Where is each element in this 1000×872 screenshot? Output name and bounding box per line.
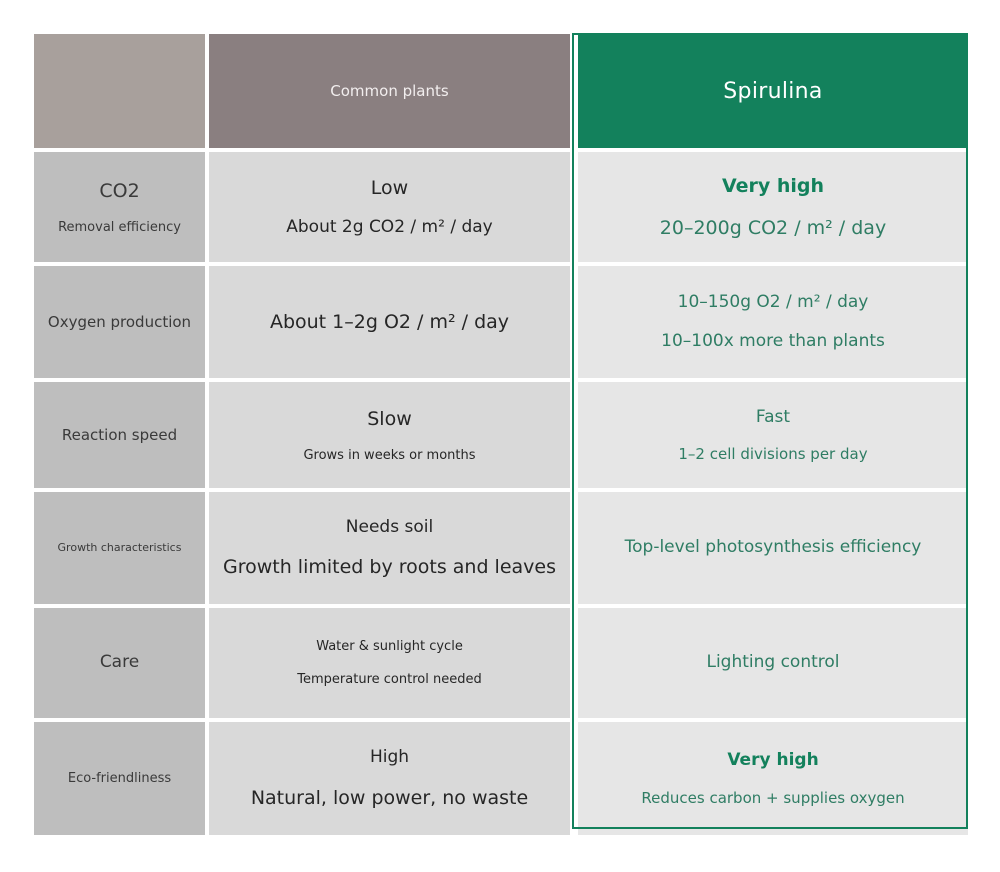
row-label-primary-co2: CO2 (99, 177, 139, 206)
column-gap (570, 34, 578, 148)
row-label-primary-reaction-speed: Reaction speed (62, 424, 177, 447)
cell-plants-growth-characteristics: Needs soil Growth limited by roots and l… (209, 492, 570, 604)
cell-text: Fast (756, 405, 790, 431)
row-label-eco-friendliness: Eco-friendliness (34, 722, 205, 835)
column-gap (570, 608, 578, 718)
row-label-growth-characteristics: Growth characteristics (34, 492, 205, 604)
header-label-common-plants: Common plants (330, 82, 448, 100)
row-label-co2: CO2 Removal efficiency (34, 152, 205, 262)
cell-text-highlight: Very high (722, 172, 824, 201)
cell-text: Lighting control (706, 650, 839, 676)
cell-spirulina-growth-characteristics: Top-level photosynthesis efficiency (578, 492, 968, 604)
cell-text: Temperature control needed (297, 670, 481, 690)
cell-text: 20–200g CO2 / m² / day (660, 214, 886, 243)
column-gap (570, 152, 578, 262)
cell-spirulina-oxygen-production: 10–150g O2 / m² / day 10–100x more than … (578, 266, 968, 378)
cell-plants-reaction-speed: Slow Grows in weeks or months (209, 382, 570, 488)
row-label-oxygen-production: Oxygen production (34, 266, 205, 378)
header-cell-empty (34, 34, 205, 148)
cell-text: Natural, low power, no waste (251, 784, 528, 813)
cell-text: About 1–2g O2 / m² / day (270, 308, 509, 337)
cell-text: Growth limited by roots and leaves (223, 553, 556, 582)
row-label-care: Care (34, 608, 205, 718)
cell-plants-care: Water & sunlight cycle Temperature contr… (209, 608, 570, 718)
cell-text: Reduces carbon + supplies oxygen (641, 787, 904, 810)
cell-text: Slow (367, 405, 412, 434)
cell-text: 10–150g O2 / m² / day (678, 290, 869, 316)
row-label-primary-growth-characteristics: Growth characteristics (58, 540, 182, 557)
cell-plants-co2: Low About 2g CO2 / m² / day (209, 152, 570, 262)
row-label-secondary-co2: Removal efficiency (58, 218, 181, 238)
cell-spirulina-co2: Very high 20–200g CO2 / m² / day (578, 152, 968, 262)
comparison-table: Common plants Spirulina CO2 Removal effi… (0, 0, 1000, 872)
column-gap (570, 266, 578, 378)
row-label-primary-eco-friendliness: Eco-friendliness (68, 769, 171, 789)
cell-text-highlight: Very high (727, 748, 818, 774)
cell-text: Water & sunlight cycle (316, 637, 463, 657)
cell-text: 1–2 cell divisions per day (678, 443, 867, 466)
cell-text: High (370, 745, 409, 771)
column-gap (570, 492, 578, 604)
header-cell-spirulina: Spirulina (578, 34, 968, 148)
row-label-primary-oxygen-production: Oxygen production (48, 311, 191, 334)
column-gap (570, 382, 578, 488)
cell-plants-oxygen-production: About 1–2g O2 / m² / day (209, 266, 570, 378)
comparison-grid: Common plants Spirulina CO2 Removal effi… (34, 34, 968, 835)
header-label-spirulina: Spirulina (723, 79, 822, 104)
row-label-primary-care: Care (100, 650, 139, 676)
row-label-reaction-speed: Reaction speed (34, 382, 205, 488)
cell-text: 10–100x more than plants (661, 329, 885, 355)
cell-spirulina-care: Lighting control (578, 608, 968, 718)
cell-text: Grows in weeks or months (303, 446, 475, 466)
cell-spirulina-reaction-speed: Fast 1–2 cell divisions per day (578, 382, 968, 488)
cell-text: Low (371, 174, 408, 203)
cell-spirulina-eco-friendliness: Very high Reduces carbon + supplies oxyg… (578, 722, 968, 835)
cell-plants-eco-friendliness: High Natural, low power, no waste (209, 722, 570, 835)
header-cell-common-plants: Common plants (209, 34, 570, 148)
cell-text: Needs soil (346, 515, 433, 541)
cell-text: Top-level photosynthesis efficiency (625, 535, 922, 561)
cell-text: About 2g CO2 / m² / day (286, 215, 492, 241)
column-gap (570, 722, 578, 835)
